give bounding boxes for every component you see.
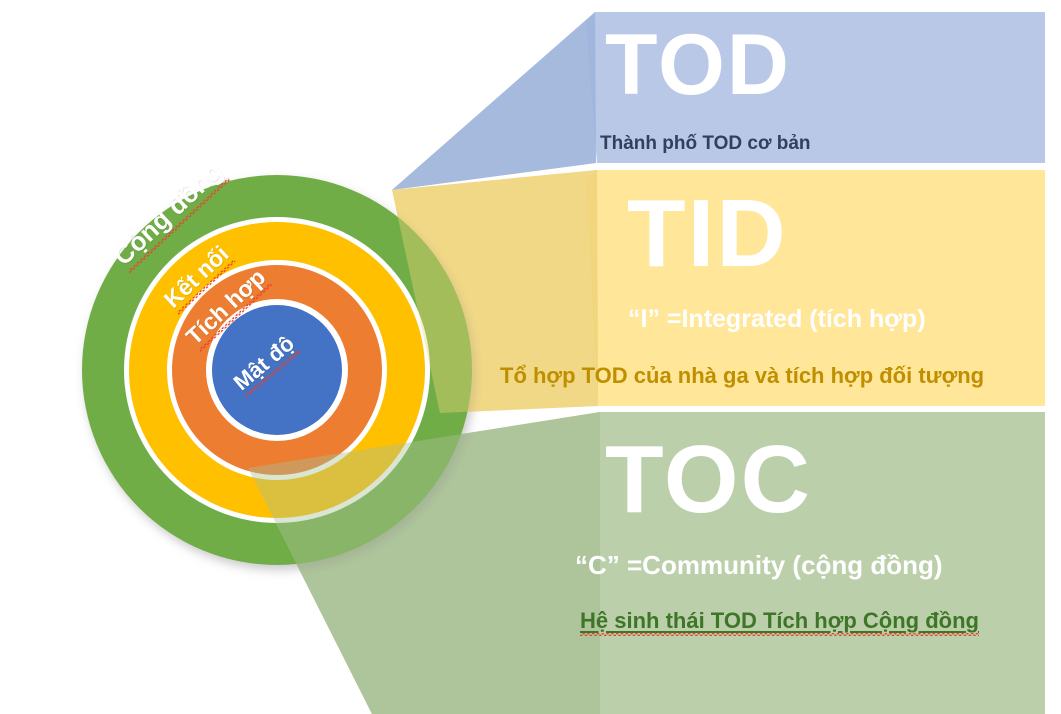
- panel-tod-acronym: TOD: [605, 22, 791, 108]
- panel-toc-description-text: Hệ sinh thái TOD Tích hợp Cộng đồng: [580, 608, 979, 635]
- panel-toc-definition: “C” =Community (cộng đồng): [575, 550, 943, 581]
- panel-toc-definition-text: “C” =Community (cộng đồng): [575, 550, 943, 580]
- diagram-canvas: Cộng đồng Kết nối Tích hợp Mật độ TOD Th…: [0, 0, 1061, 714]
- panel-tid-acronym: TID: [627, 186, 788, 282]
- panel-toc-description: Hệ sinh thái TOD Tích hợp Cộng đồng: [580, 608, 979, 634]
- panel-tid-definition-text: “I” =Integrated (tích hợp): [628, 305, 926, 333]
- diagram-graphics: [0, 0, 1061, 714]
- panel-tid-definition: “I” =Integrated (tích hợp): [628, 305, 926, 334]
- panel-tid-description: Tổ hợp TOD của nhà ga và tích hợp đối tư…: [500, 363, 984, 389]
- panel-toc-acronym: TOC: [605, 432, 812, 528]
- cone-tod-overlay: [392, 12, 596, 190]
- panel-tid-description-text: Tổ hợp TOD của nhà ga và tích hợp đối tư…: [500, 363, 984, 388]
- panel-tod-subtitle: Thành phố TOD cơ bản: [600, 133, 811, 155]
